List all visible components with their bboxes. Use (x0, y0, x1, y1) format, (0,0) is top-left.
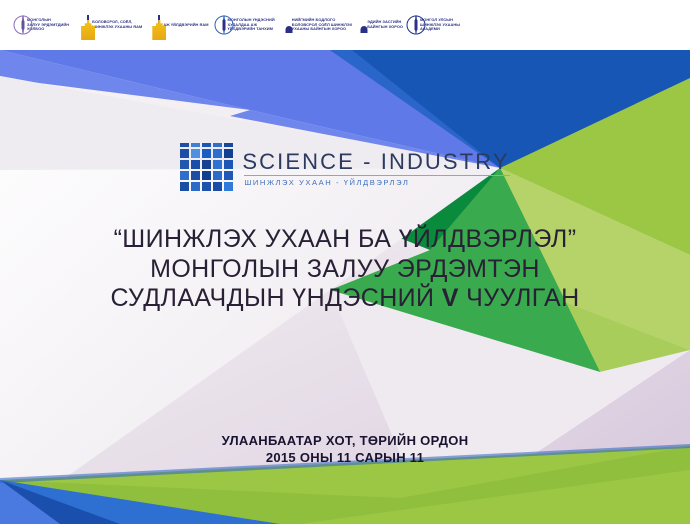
ministry-crest-icon (158, 16, 160, 34)
sponsor-label: МОНГОЛ УЛСЫН ШИНЖЛЭХ УХААНЫ АКАДЕМИ (420, 18, 460, 32)
sponsor-logo-mongolian-young-scientists-association: МОНГОЛЫН ЗАЛУУ ЭРДЭМТДИЙН ХОЛБОО (22, 5, 69, 45)
logo-grid-cell (191, 171, 200, 180)
conference-headline: “ШИНЖЛЭХ УХААН БА ҮЙЛДВЭРЛЭЛ” МОНГОЛЫН З… (0, 225, 690, 314)
logo-grid-cell (224, 149, 233, 158)
logo-grid-cell (224, 143, 233, 147)
logo-grid-cell (191, 160, 200, 169)
sponsor-label: МОНГОЛЫН ҮНДЭСНИЙ ХУДАЛДАА АЖ ҮЙЛДВЭРИЙН… (228, 18, 275, 32)
logo-grid-cell (180, 171, 189, 180)
headline-line-2: МОНГОЛЫН ЗАЛУУ ЭРДЭМТЭН (0, 255, 690, 285)
logo-grid-cell (224, 171, 233, 180)
logo-grid-cell (213, 171, 222, 180)
sponsor-logo-strip: МОНГОЛЫН ЗАЛУУ ЭРДЭМТДИЙН ХОЛБОО БОЛОВСР… (0, 0, 690, 50)
headline-line-3-after: ЧУУЛГАН (459, 284, 580, 312)
sponsor-logo-ministry-of-industry: АЖ ҮЙЛДВЭРИЙН ЯАМ (158, 5, 208, 45)
logo-grid-cell (224, 160, 233, 169)
logo-grid-cell (202, 160, 211, 169)
conference-banner: МОНГОЛЫН ЗАЛУУ ЭРДЭМТДИЙН ХОЛБОО БОЛОВСР… (0, 0, 690, 524)
sponsor-label: АЖ ҮЙЛДВЭРИЙН ЯАМ (163, 23, 208, 28)
logo-grid-cell (213, 143, 222, 147)
headline-line-3: СУДЛААЧДЫН ҮНДЭСНИЙ V ЧУУЛГАН (0, 284, 690, 314)
circular-seal-icon (415, 16, 417, 34)
logo-grid-cell (180, 143, 189, 147)
science-industry-logo: SCIENCE - INDUSTRY ШИНЖЛЭХ УХААН - ҮЙЛДВ… (0, 143, 690, 191)
date-text: 2015 ОНЫ 11 САРЫН 11 (0, 450, 690, 467)
sponsor-label: НИЙГМИЙН БОДЛОГО БОЛОВСРОЛ СОЁЛ ШИНЖЛЭХ … (292, 18, 353, 32)
logo-grid-cell (191, 149, 200, 158)
logo-grid-cell (180, 182, 189, 191)
sponsor-logo-standing-committee-social-policy: УИХ НИЙГМИЙН БОДЛОГО БОЛОВСРОЛ СОЁЛ ШИНЖ… (289, 5, 353, 45)
logo-grid-cell (224, 182, 233, 191)
circular-seal-icon (22, 16, 24, 34)
logo-grid-cell (191, 182, 200, 191)
sponsor-logo-standing-committee-economics: УИХ ЭДИЙН ЗАСГИЙН БАЙНГЫН ХОРОО (364, 5, 403, 45)
logo-grid-cell (202, 182, 211, 191)
headline-roman-numeral: V (442, 284, 459, 312)
logo-grid-cell (202, 149, 211, 158)
sponsor-label: МОНГОЛЫН ЗАЛУУ ЭРДЭМТДИЙН ХОЛБОО (27, 18, 69, 32)
logo-grid-cell (191, 143, 200, 147)
venue-and-date: УЛААНБААТАР ХОТ, ТӨРИЙН ОРДОН 2015 ОНЫ 1… (0, 433, 690, 466)
sponsor-logo-ministry-of-education-culture-science: БОЛОВСРОЛ, СОЁЛ, ШИНЖЛЭХ УХААНЫ ЯАМ (87, 5, 142, 45)
logo-grid-cell (213, 149, 222, 158)
sponsor-label: ЭДИЙН ЗАСГИЙН БАЙНГЫН ХОРОО (367, 20, 403, 29)
logo-grid-cell (180, 149, 189, 158)
logo-grid-cell (213, 182, 222, 191)
venue-text: УЛААНБААТАР ХОТ, ТӨРИЙН ОРДОН (0, 433, 690, 450)
logo-grid-cell (202, 143, 211, 147)
logo-grid-cell (180, 160, 189, 169)
sponsor-logo-mongolian-academy-of-sciences: МОНГОЛ УЛСЫН ШИНЖЛЭХ УХААНЫ АКАДЕМИ (415, 5, 460, 45)
ministry-crest-icon (87, 16, 89, 34)
logo-title: SCIENCE - INDUSTRY (242, 150, 509, 174)
logo-grid-cell (202, 171, 211, 180)
sponsor-label: БОЛОВСРОЛ, СОЁЛ, ШИНЖЛЭХ УХААНЫ ЯАМ (92, 20, 142, 29)
blue-square-grid-mark-icon (180, 143, 233, 191)
headline-line-1: “ШИНЖЛЭХ УХААН БА ҮЙЛДВЭРЛЭЛ” (0, 225, 690, 255)
headline-line-3-before: СУДЛААЧДЫН ҮНДЭСНИЙ (110, 284, 441, 312)
sponsor-logo-mongolian-national-chamber-of-commerce: МОНГОЛЫН ҮНДЭСНИЙ ХУДАЛДАА АЖ ҮЙЛДВЭРИЙН… (223, 5, 275, 45)
circular-seal-icon (223, 16, 225, 34)
logo-divider (244, 175, 509, 176)
logo-subtitle: ШИНЖЛЭХ УХААН - ҮЙЛДВЭРЛЭЛ (242, 178, 509, 187)
logo-grid-cell (213, 160, 222, 169)
